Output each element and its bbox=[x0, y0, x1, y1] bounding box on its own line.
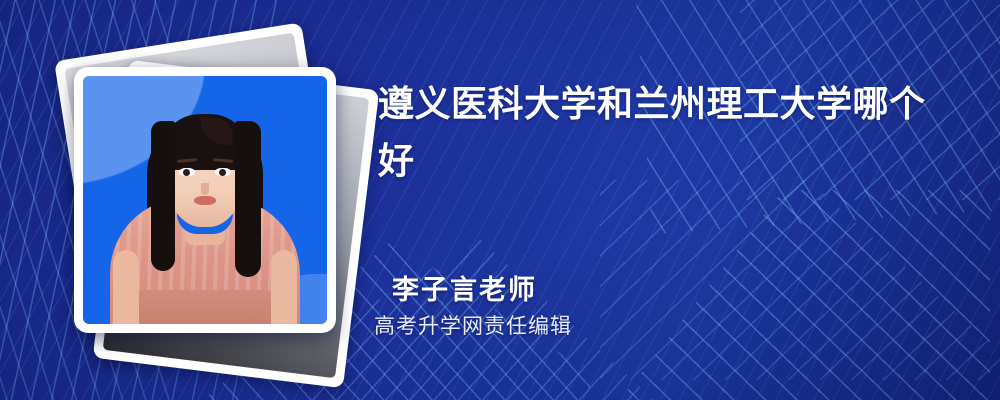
author-photo-stack bbox=[48, 34, 368, 364]
portrait-arm-left bbox=[113, 250, 139, 324]
portrait-nose bbox=[201, 183, 209, 195]
portrait-arm-right bbox=[271, 250, 297, 324]
portrait-illustration bbox=[83, 76, 327, 324]
portrait-dress-waist bbox=[130, 290, 280, 324]
author-photo bbox=[83, 76, 327, 324]
author-info: 李子言老师 高考升学网责任编辑 bbox=[372, 272, 792, 342]
article-title: 遵义医科大学和兰州理工大学哪个好 bbox=[378, 76, 958, 190]
portrait-eye-left bbox=[179, 168, 195, 176]
author-role: 高考升学网责任编辑 bbox=[372, 310, 792, 342]
portrait-mouth bbox=[194, 196, 216, 205]
author-photo-frame bbox=[74, 67, 336, 333]
portrait-hair-right-strand bbox=[235, 121, 261, 277]
portrait-hair-left-strand bbox=[151, 121, 175, 271]
author-name: 李子言老师 bbox=[372, 272, 792, 310]
portrait-eye-right bbox=[215, 168, 231, 176]
article-cover-banner: 遵义医科大学和兰州理工大学哪个好 李子言老师 高考升学网责任编辑 bbox=[0, 0, 1000, 400]
